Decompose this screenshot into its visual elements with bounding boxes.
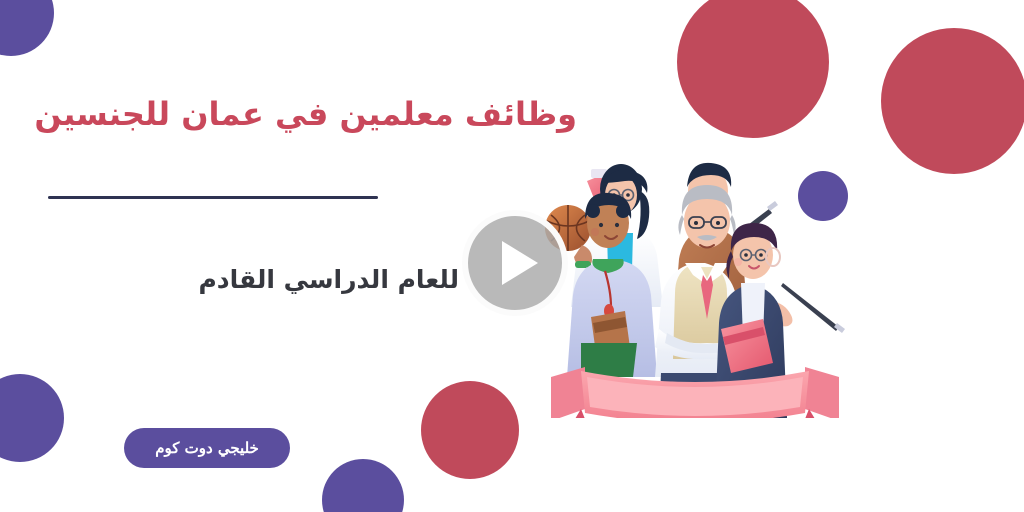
circle-purple-bottom-left <box>0 374 64 462</box>
circle-red-top-1 <box>677 0 829 138</box>
circle-red-top-2 <box>881 28 1024 174</box>
subtitle-text: للعام الدراسي القادم <box>59 264 459 297</box>
headline-title: وظائف معلمين في عمان للجنسين <box>47 94 577 134</box>
circle-purple-bottom-mid <box>322 459 404 512</box>
play-button[interactable] <box>462 210 568 316</box>
circle-purple-top-left <box>0 0 54 56</box>
circle-red-bottom <box>421 381 519 479</box>
title-divider <box>48 196 378 199</box>
brand-badge[interactable]: خليجي دوت كوم <box>124 428 290 468</box>
brand-badge-label: خليجي دوت كوم <box>155 439 259 457</box>
teachers-group-illustration <box>535 133 855 418</box>
video-thumbnail-canvas: وظائف معلمين في عمان للجنسين للعام الدرا… <box>0 0 1024 512</box>
play-triangle-icon <box>502 241 538 285</box>
